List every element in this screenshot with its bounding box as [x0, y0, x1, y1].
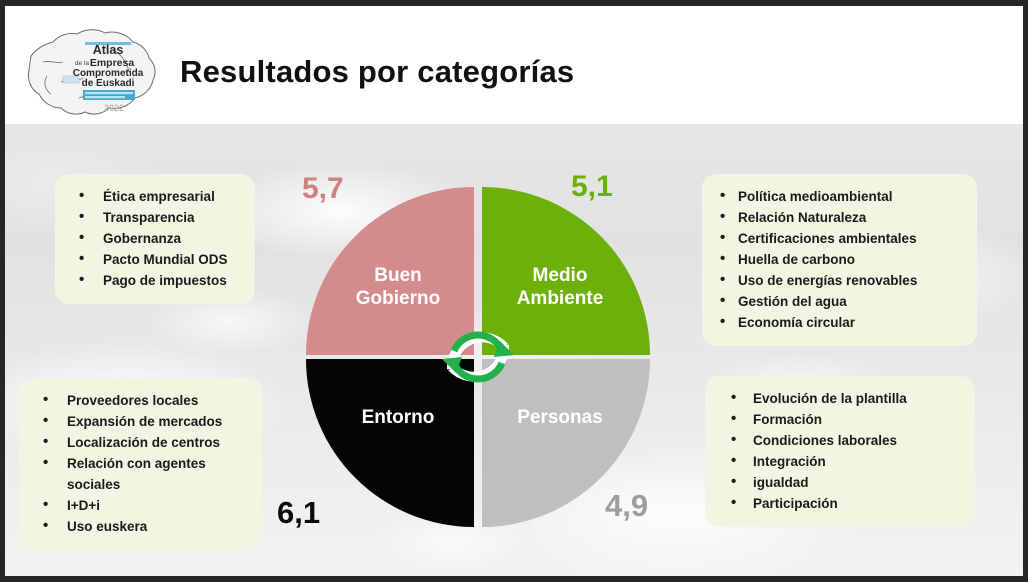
list-item: Huella de carbono	[716, 249, 963, 270]
score-personas: 4,9	[605, 488, 648, 524]
infobox-list-personas: Evolución de la plantilla Formación Cond…	[719, 388, 961, 514]
list-item: Economía circular	[716, 312, 963, 333]
list-item: Proveedores locales	[33, 390, 248, 411]
list-item-continuation: sociales	[33, 474, 248, 495]
quadrant-label-entorno: Entorno	[323, 406, 473, 429]
logo-year: 2022	[104, 103, 124, 113]
quadrant-entorno	[306, 359, 474, 527]
list-item: Gobernanza	[69, 228, 241, 249]
list-item: Localización de centros	[33, 432, 248, 453]
list-item: Uso de energías renovables	[716, 270, 963, 291]
logo-line-4: de Euskadi	[82, 78, 135, 89]
list-item: Condiciones laborales	[719, 430, 961, 451]
list-item: Formación	[719, 409, 961, 430]
infobox-buen-gobierno: Ética empresarial Transparencia Gobernan…	[55, 174, 255, 304]
list-item: Certificaciones ambientales	[716, 228, 963, 249]
list-item: Evolución de la plantilla	[719, 388, 961, 409]
quadrant-label-personas: Personas	[485, 406, 635, 429]
infobox-list-buen-gobierno: Ética empresarial Transparencia Gobernan…	[69, 186, 241, 291]
slide-header: Atlas de la Empresa Comprometida de Eusk…	[5, 6, 1023, 124]
list-item: Relación con agentes	[33, 453, 248, 474]
infobox-list-medio-ambiente: Política medioambiental Relación Natural…	[716, 186, 963, 333]
list-item: Participación	[719, 493, 961, 514]
infobox-medio-ambiente: Política medioambiental Relación Natural…	[702, 174, 977, 346]
infobox-list-entorno: Proveedores locales Expansión de mercado…	[33, 390, 248, 537]
logo-line-1: Atlas	[93, 43, 124, 57]
list-item: Relación Naturaleza	[716, 207, 963, 228]
quadrant-label-buen-gobierno: Buen Gobierno	[323, 264, 473, 310]
slide: Atlas de la Empresa Comprometida de Eusk…	[0, 0, 1028, 582]
list-item: Expansión de mercados	[33, 411, 248, 432]
list-item: Uso euskera	[33, 516, 248, 537]
infobox-personas: Evolución de la plantilla Formación Cond…	[705, 376, 975, 527]
list-item: Transparencia	[69, 207, 241, 228]
atlas-logo: Atlas de la Empresa Comprometida de Eusk…	[17, 20, 175, 124]
list-item: igualdad	[719, 472, 961, 493]
list-item: I+D+i	[33, 495, 248, 516]
list-item: Pacto Mundial ODS	[69, 249, 241, 270]
score-buen-gobierno: 5,7	[302, 172, 344, 206]
list-item: Política medioambiental	[716, 186, 963, 207]
list-item: Ética empresarial	[69, 186, 241, 207]
logo-line-2-small: de la	[75, 60, 89, 67]
page-title: Resultados por categorías	[180, 54, 574, 90]
list-item: Gestión del agua	[716, 291, 963, 312]
quadrant-chart	[302, 179, 654, 531]
list-item: Integración	[719, 451, 961, 472]
quadrant-label-medio-ambiente: Medio Ambiente	[485, 264, 635, 310]
score-medio-ambiente: 5,1	[571, 170, 613, 204]
score-entorno: 6,1	[277, 495, 320, 531]
infobox-entorno: Proveedores locales Expansión de mercado…	[19, 378, 262, 550]
list-item: Pago de impuestos	[69, 270, 241, 291]
